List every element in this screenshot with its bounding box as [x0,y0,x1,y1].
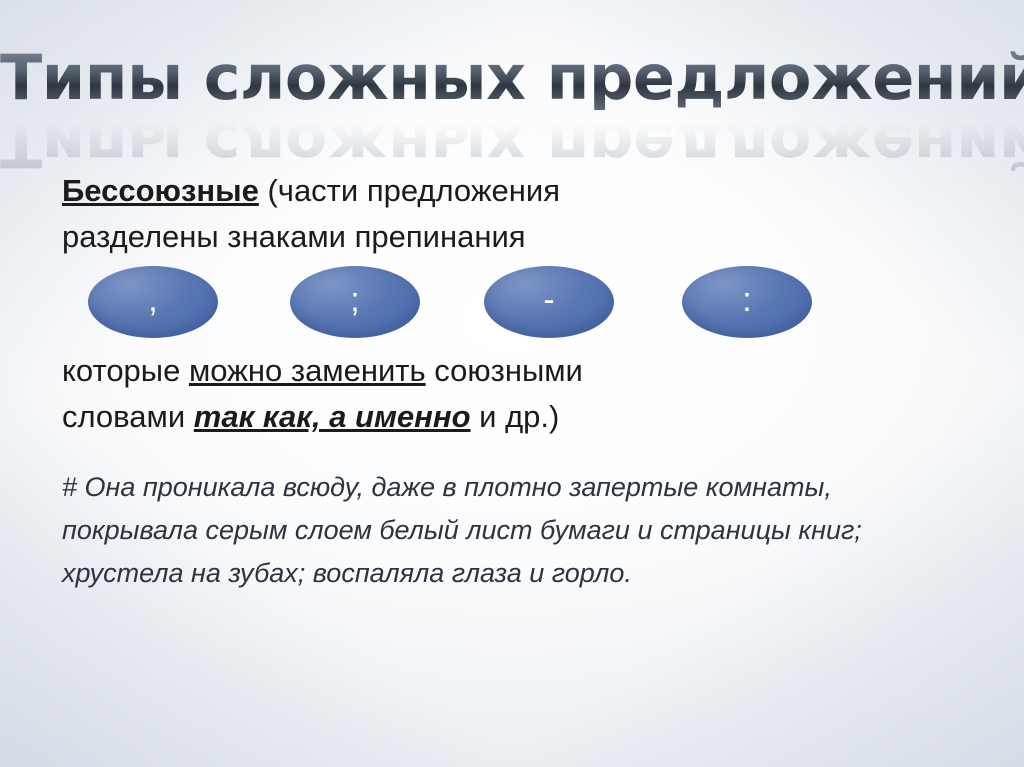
example-sentence: # Она проникала всюду, даже в плотно зап… [62,466,942,595]
punctuation-marks-row: , ; - : [62,266,962,344]
page-title-reflection: Типы сложных предложений [0,112,1024,176]
mark-ellipse-colon: : [682,266,812,338]
definition-line-4: словами так как, а именно и др.) [62,394,962,440]
slide: Типы сложных предложений Типы сложных пр… [0,0,1024,767]
definition-line-3-suffix: союзными [426,353,583,388]
title-block: Типы сложных предложений Типы сложных пр… [0,46,1024,176]
definition-line-3-underlined: можно заменить [189,353,426,388]
definition-line-2: разделены знаками препинания [62,214,962,260]
definition-line-3-prefix: которые [62,353,189,388]
mark-label-comma: , [148,283,157,317]
mark-label-dash: - [543,283,554,317]
definition-paragraph: Бессоюзные (части предложения разделены … [62,168,962,260]
page-title: Типы сложных предложений [0,46,1024,110]
definition-line-4-italic: так как, а именно [194,399,471,434]
definition-line-4-prefix: словами [62,399,194,434]
mark-ellipse-dash: - [484,266,614,338]
slide-body: Бессоюзные (части предложения разделены … [62,168,962,595]
mark-ellipse-comma: , [88,266,218,338]
mark-label-semicolon: ; [350,283,359,317]
mark-ellipse-semicolon: ; [290,266,420,338]
definition-line-4-suffix: и др.) [471,399,560,434]
definition-line-3: которые можно заменить союзными [62,348,962,394]
mark-label-colon: : [742,283,751,317]
definition-paragraph-cont: которые можно заменить союзными словами … [62,348,962,440]
